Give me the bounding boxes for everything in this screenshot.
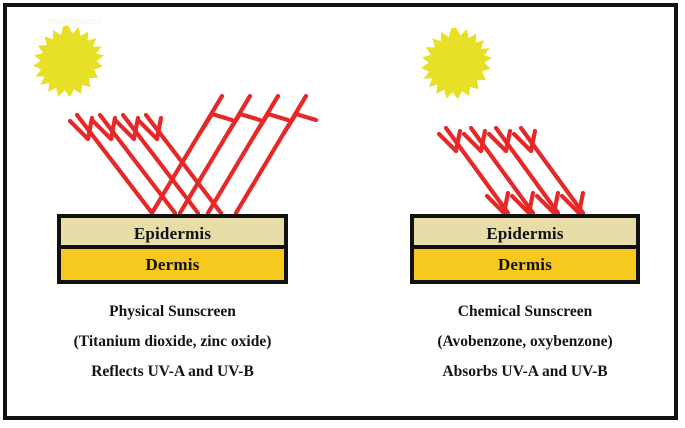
caption-chemical-sunscreen: Chemical Sunscreen (Avobenzone, oxybenzo… (392, 297, 658, 387)
dermis-layer-right: Dermis (414, 249, 636, 280)
sun-icon-left (32, 24, 104, 96)
dermis-layer-left: Dermis (61, 249, 284, 280)
skin-stack-right: Epidermis Dermis (410, 214, 640, 284)
epidermis-layer-left: Epidermis (61, 218, 284, 249)
skin-stack-left: Epidermis Dermis (57, 214, 288, 284)
epidermis-layer-right: Epidermis (414, 218, 636, 249)
sunscreen-diagram: shutterstock (0, 0, 685, 428)
caption-physical-sunscreen: Physical Sunscreen (Titanium dioxide, zi… (40, 297, 305, 387)
caption-line-title-right: Chemical Sunscreen (392, 297, 658, 327)
caption-line-title-left: Physical Sunscreen (40, 297, 305, 327)
caption-line-ingredients-left: (Titanium dioxide, zinc oxide) (40, 327, 305, 357)
caption-line-action-right: Absorbs UV-A and UV-B (392, 357, 658, 387)
sun-icon-right (420, 26, 492, 98)
caption-line-action-left: Reflects UV-A and UV-B (40, 357, 305, 387)
caption-line-ingredients-right: (Avobenzone, oxybenzone) (392, 327, 658, 357)
